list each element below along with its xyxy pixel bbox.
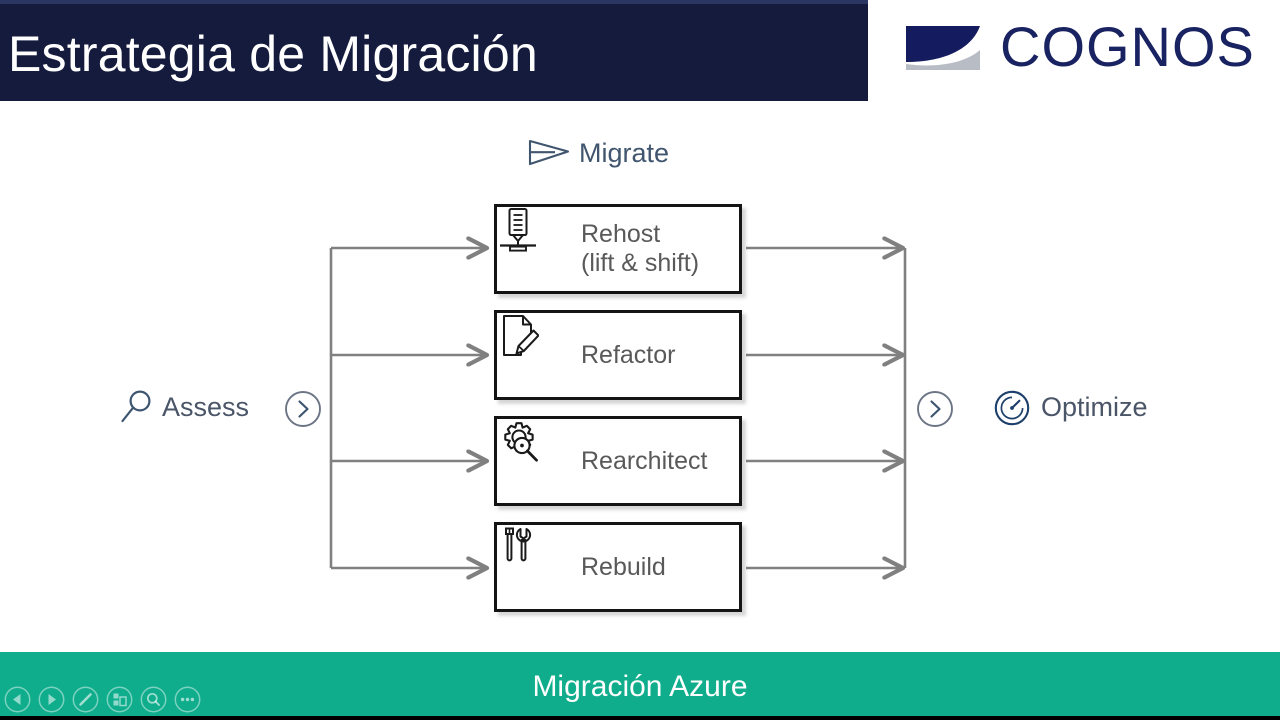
stage-label-migrate: Migrate xyxy=(579,137,669,169)
option-box-rebuild[interactable]: Rebuild xyxy=(494,522,742,612)
chevron-right-circle-icon xyxy=(284,390,322,428)
option-label-rehost: Rehost (lift & shift) xyxy=(581,220,739,278)
more-options-icon[interactable] xyxy=(174,686,201,713)
slide-bottom-edge xyxy=(0,716,1280,720)
document-pencil-icon xyxy=(515,332,561,378)
option-box-rearchitect[interactable]: Rearchitect xyxy=(494,416,742,506)
paper-plane-icon xyxy=(528,137,570,171)
cognos-wordmark: COGNOS xyxy=(1000,17,1255,77)
option-label-refactor: Refactor xyxy=(581,341,739,370)
slides-grid-icon[interactable] xyxy=(106,686,133,713)
gauge-icon xyxy=(993,389,1031,427)
server-lift-icon xyxy=(515,226,561,272)
option-label-rebuild: Rebuild xyxy=(581,553,739,582)
option-box-refactor[interactable]: Refactor xyxy=(494,310,742,400)
cognos-swoosh-icon xyxy=(902,24,988,72)
next-slide-icon[interactable] xyxy=(38,686,65,713)
page-title: Estrategia de Migración xyxy=(8,24,538,84)
stage-label-assess: Assess xyxy=(162,391,249,423)
stage-label-optimize: Optimize xyxy=(1041,391,1148,423)
previous-slide-icon[interactable] xyxy=(4,686,31,713)
option-box-rehost[interactable]: Rehost (lift & shift) xyxy=(494,204,742,294)
presentation-toolbar xyxy=(4,686,201,713)
migration-strategy-diagram: Migrate Assess xyxy=(0,101,1280,652)
gear-magnifier-icon xyxy=(515,438,561,484)
presentation-slide: Estrategia de Migración COGNOS xyxy=(0,0,1280,720)
screwdriver-wrench-icon xyxy=(515,544,561,590)
cognos-logo: COGNOS xyxy=(902,16,1262,86)
slide-header-band: Estrategia de Migración xyxy=(0,4,868,101)
magnifier-icon xyxy=(120,389,154,425)
option-label-rearchitect: Rearchitect xyxy=(581,447,739,476)
chevron-right-circle-icon-right xyxy=(916,390,954,428)
pen-icon[interactable] xyxy=(72,686,99,713)
zoom-magnifier-icon[interactable] xyxy=(140,686,167,713)
